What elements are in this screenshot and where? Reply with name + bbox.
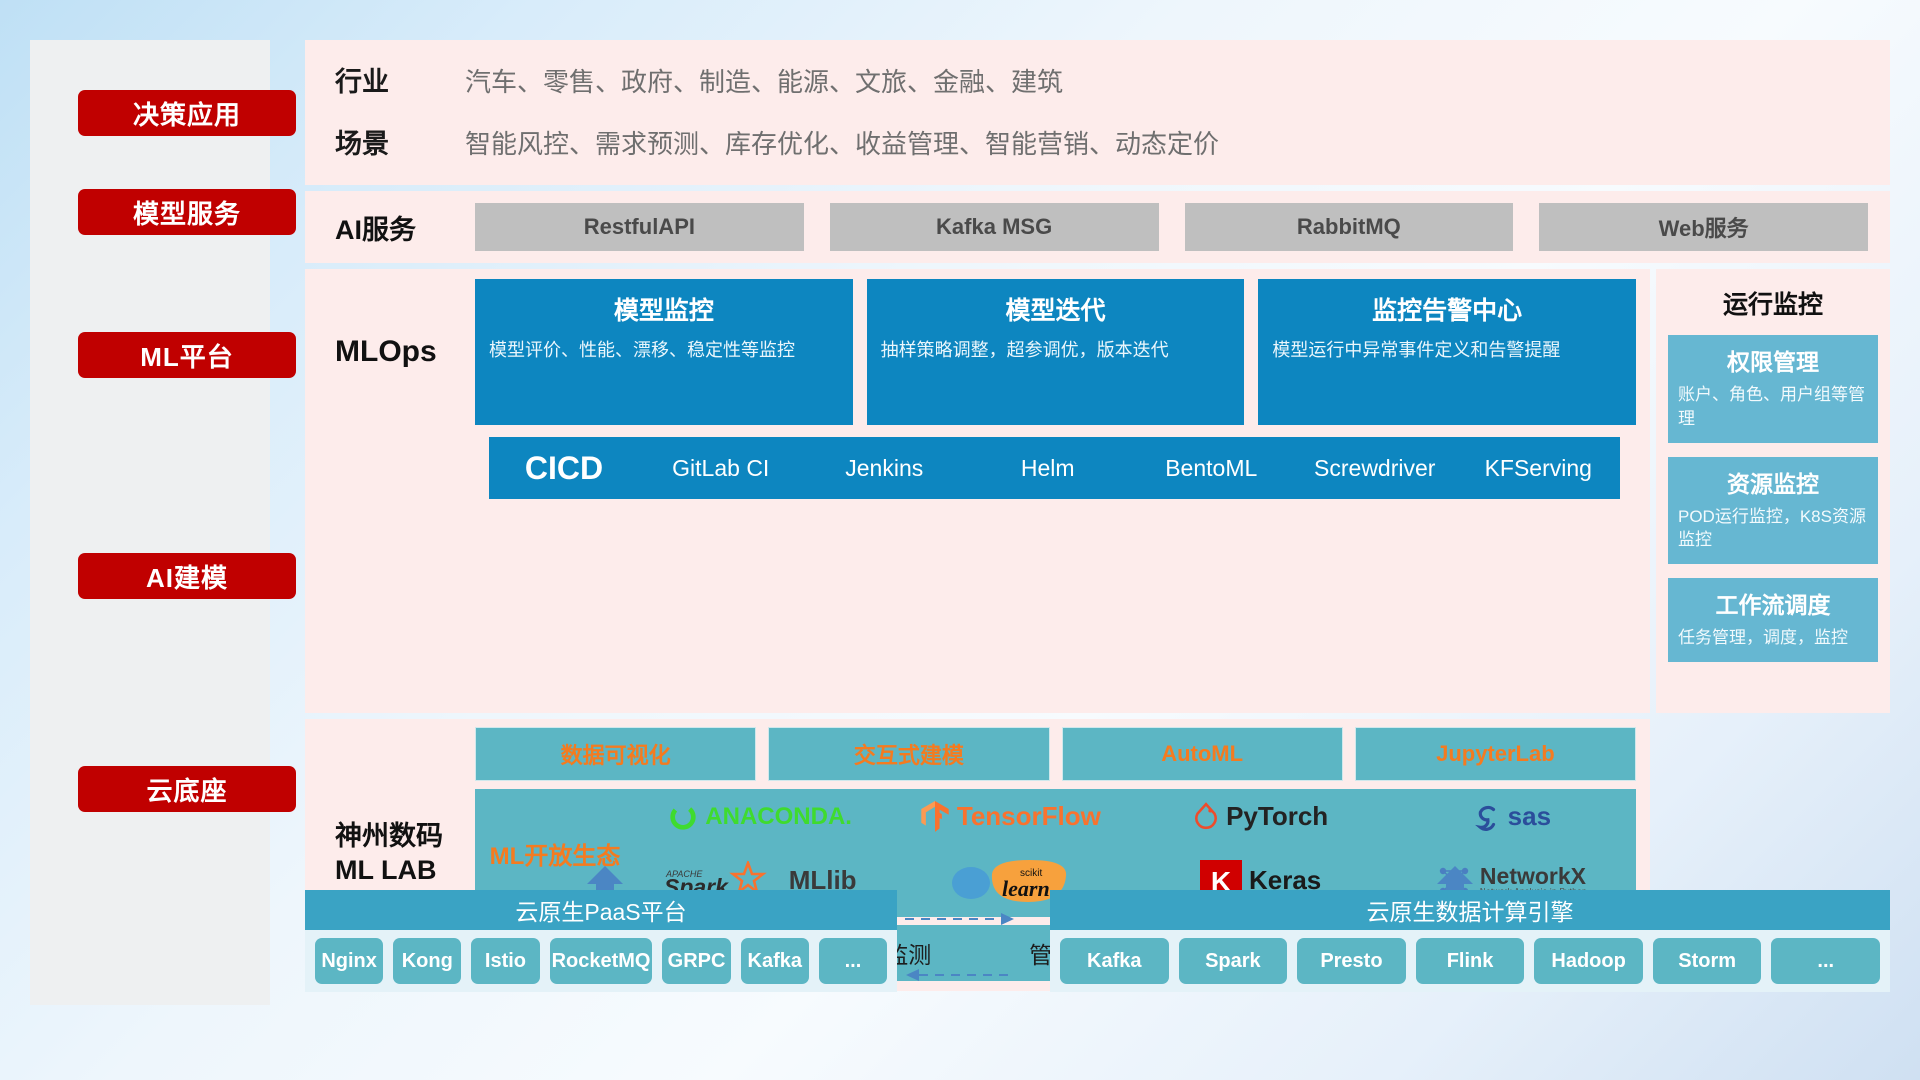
architecture-diagram: 决策应用 模型服务 ML平台 AI建模 云底座 行业 场景 汽车、零售、政府、制… — [0, 0, 1920, 1080]
cicd-item-jenkins[interactable]: Jenkins — [803, 456, 967, 480]
compute-chip-flink[interactable]: Flink — [1416, 938, 1525, 984]
tab-data-visualization[interactable]: 数据可视化 — [475, 727, 756, 781]
ai-service-chip-web[interactable]: Web服务 — [1539, 203, 1868, 251]
mlops-title: MLOps — [335, 279, 475, 425]
ml-lab-title-line2: ML LAB — [335, 854, 443, 888]
mlops-card-model-monitoring[interactable]: 模型监控 模型评价、性能、漂移、稳定性等监控 — [475, 279, 853, 425]
cicd-item-screwdriver[interactable]: Screwdriver — [1293, 456, 1457, 480]
data-compute-engine: 云原生数据计算引擎 Kafka Spark Presto Flink Hadoo… — [1050, 890, 1890, 992]
ml-lab-title-line1: 神州数码 — [335, 820, 443, 854]
paas-chip-more[interactable]: ... — [819, 938, 887, 984]
tensorflow-label: TensorFlow — [957, 801, 1101, 832]
networkx-label: NetworkX — [1480, 863, 1586, 889]
compute-title: 云原生数据计算引擎 — [1050, 890, 1890, 930]
card-title: 模型监控 — [489, 291, 839, 327]
paas-title: 云原生PaaS平台 — [305, 890, 897, 930]
paas-chips: Nginx Kong Istio RocketMQ GRPC Kafka ... — [305, 930, 897, 992]
cicd-title: CICD — [489, 450, 639, 487]
mlops-band: MLOps 模型监控 模型评价、性能、漂移、稳定性等监控 模型迭代 抽样策略调整… — [305, 269, 1650, 713]
cicd-item-bentoml[interactable]: BentoML — [1130, 456, 1294, 480]
anaconda-logo: ANACONDA. — [668, 802, 852, 832]
pytorch-icon — [1193, 802, 1219, 832]
layer-tag-decision-apps[interactable]: 决策应用 — [78, 90, 296, 136]
layer-tag-label: ML平台 — [140, 337, 234, 374]
ai-service-band: AI服务 RestfulAPI Kafka MSG RabbitMQ Web服务 — [305, 191, 1890, 263]
layer-tag-label: AI建模 — [146, 558, 228, 595]
decision-applications-band: 行业 场景 汽车、零售、政府、制造、能源、文旅、金融、建筑 智能风控、需求预测、… — [305, 40, 1890, 185]
tab-automl[interactable]: AutoML — [1062, 727, 1343, 781]
paas-chip-rocketmq[interactable]: RocketMQ — [550, 938, 653, 984]
compute-chips: Kafka Spark Presto Flink Hadoop Storm ..… — [1050, 930, 1890, 992]
industry-label: 行业 — [335, 51, 445, 113]
layer-tag-label: 云底座 — [146, 771, 227, 808]
scenario-label: 场景 — [335, 113, 445, 175]
layer-tag-model-service[interactable]: 模型服务 — [78, 189, 296, 235]
paas-chip-nginx[interactable]: Nginx — [315, 938, 383, 984]
paas-chip-kafka[interactable]: Kafka — [741, 938, 809, 984]
paas-chip-grpc[interactable]: GRPC — [662, 938, 730, 984]
monitor-card-workflow[interactable]: 工作流调度 任务管理，调度，监控 — [1668, 578, 1878, 662]
main-stack: 行业 场景 汽车、零售、政府、制造、能源、文旅、金融、建筑 智能风控、需求预测、… — [305, 40, 1890, 991]
ai-service-items: RestfulAPI Kafka MSG RabbitMQ Web服务 — [475, 203, 1868, 251]
dashed-arrow-right-icon — [905, 912, 1015, 931]
tab-jupyterlab[interactable]: JupyterLab — [1355, 727, 1636, 781]
ai-service-title: AI服务 — [335, 208, 475, 247]
mlops-card-alert-center[interactable]: 监控告警中心 模型运行中异常事件定义和告警提醒 — [1258, 279, 1636, 425]
cicd-band: CICD GitLab CI Jenkins Helm BentoML Scre… — [489, 437, 1620, 499]
compute-chip-storm[interactable]: Storm — [1653, 938, 1762, 984]
card-desc: 抽样策略调整，超参调优，版本迭代 — [881, 337, 1231, 363]
layer-tag-cloud-base[interactable]: 云底座 — [78, 766, 296, 812]
monitor-card-resource[interactable]: 资源监控 POD运行监控，K8S资源监控 — [1668, 457, 1878, 565]
layer-tag-ml-platform[interactable]: ML平台 — [78, 332, 296, 378]
card-desc: POD运行监控，K8S资源监控 — [1678, 505, 1868, 553]
tensorflow-icon — [920, 801, 950, 833]
runtime-monitor-title: 运行监控 — [1668, 285, 1878, 321]
applications-labels: 行业 场景 — [335, 51, 445, 175]
paas-platform: 云原生PaaS平台 Nginx Kong Istio RocketMQ GRPC… — [305, 890, 897, 992]
pytorch-label: PyTorch — [1226, 801, 1328, 832]
layer-tag-label: 模型服务 — [133, 194, 241, 231]
ai-service-chip-restfulapi[interactable]: RestfulAPI — [475, 203, 804, 251]
compute-chip-presto[interactable]: Presto — [1297, 938, 1406, 984]
card-title: 资源监控 — [1678, 465, 1868, 499]
monitor-card-permission[interactable]: 权限管理 账户、角色、用户组等管理 — [1668, 335, 1878, 443]
card-desc: 任务管理，调度，监控 — [1678, 626, 1868, 650]
sas-logo: sas — [1471, 801, 1551, 832]
card-title: 模型迭代 — [881, 291, 1231, 327]
card-desc: 模型运行中异常事件定义和告警提醒 — [1272, 337, 1622, 363]
card-desc: 模型评价、性能、漂移、稳定性等监控 — [489, 337, 839, 363]
applications-values: 汽车、零售、政府、制造、能源、文旅、金融、建筑 智能风控、需求预测、库存优化、收… — [465, 51, 1219, 175]
tensorflow-logo: TensorFlow — [920, 801, 1101, 833]
compute-chip-kafka[interactable]: Kafka — [1060, 938, 1169, 984]
card-title: 监控告警中心 — [1272, 291, 1622, 327]
compute-chip-more[interactable]: ... — [1771, 938, 1880, 984]
layer-tag-ai-modeling[interactable]: AI建模 — [78, 553, 296, 599]
cicd-item-helm[interactable]: Helm — [966, 456, 1130, 480]
card-title: 权限管理 — [1678, 343, 1868, 377]
cicd-item-kfserving[interactable]: KFServing — [1457, 456, 1621, 480]
runtime-monitor-panel: 运行监控 权限管理 账户、角色、用户组等管理 资源监控 POD运行监控，K8S资… — [1656, 269, 1890, 713]
card-title: 工作流调度 — [1678, 586, 1868, 620]
paas-chip-kong[interactable]: Kong — [393, 938, 461, 984]
ai-service-chip-kafka-msg[interactable]: Kafka MSG — [830, 203, 1159, 251]
cicd-item-gitlab-ci[interactable]: GitLab CI — [639, 456, 803, 480]
layer-tag-label: 决策应用 — [133, 95, 241, 132]
sas-icon — [1471, 802, 1501, 832]
mlops-card-model-iteration[interactable]: 模型迭代 抽样策略调整，超参调优，版本迭代 — [867, 279, 1245, 425]
sas-label: sas — [1508, 801, 1551, 832]
paas-chip-istio[interactable]: Istio — [471, 938, 539, 984]
industry-value: 汽车、零售、政府、制造、能源、文旅、金融、建筑 — [465, 51, 1219, 113]
anaconda-label: ANACONDA. — [705, 803, 852, 831]
ml-lab-tabs: 数据可视化 交互式建模 AutoML JupyterLab — [475, 727, 1636, 781]
scenario-value: 智能风控、需求预测、库存优化、收益管理、智能营销、动态定价 — [465, 113, 1219, 175]
dashed-arrow-left-icon — [905, 968, 1015, 987]
pytorch-logo: PyTorch — [1193, 801, 1328, 832]
compute-chip-hadoop[interactable]: Hadoop — [1534, 938, 1643, 984]
compute-chip-spark[interactable]: Spark — [1179, 938, 1288, 984]
cloud-base-row: 云原生PaaS平台 Nginx Kong Istio RocketMQ GRPC… — [305, 890, 1890, 1010]
tab-interactive-modeling[interactable]: 交互式建模 — [768, 727, 1049, 781]
ml-platform-row: MLOps 模型监控 模型评价、性能、漂移、稳定性等监控 模型迭代 抽样策略调整… — [305, 269, 1890, 713]
anaconda-icon — [668, 802, 698, 832]
card-desc: 账户、角色、用户组等管理 — [1678, 383, 1868, 431]
ai-service-chip-rabbitmq[interactable]: RabbitMQ — [1185, 203, 1514, 251]
layer-rail: 决策应用 模型服务 ML平台 AI建模 云底座 — [30, 40, 270, 1005]
